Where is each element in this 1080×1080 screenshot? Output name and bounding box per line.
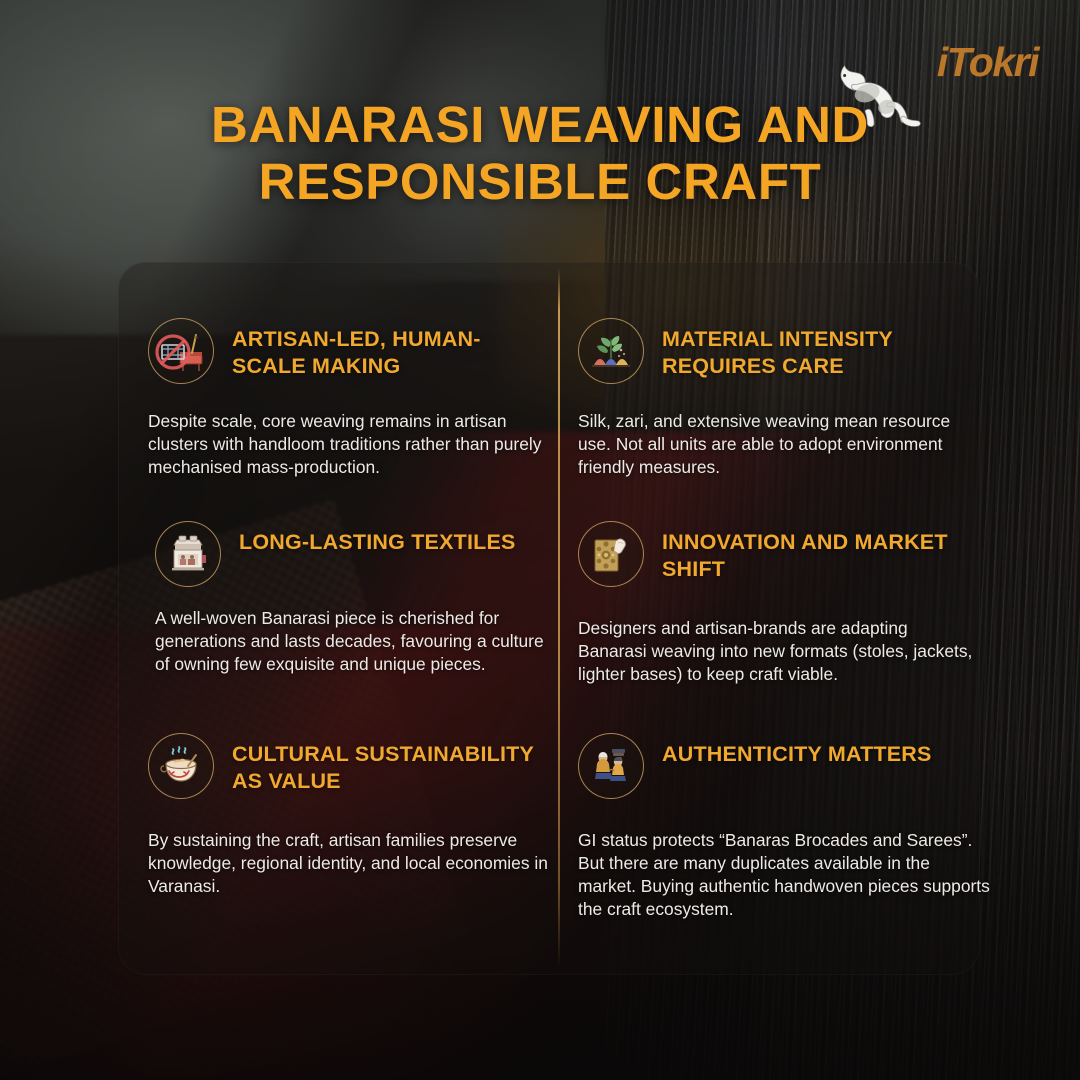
card-header: CULTURAL SUSTAINABILITY AS VALUE — [148, 733, 548, 799]
card-header: INNOVATION AND MARKET SHIFT — [578, 521, 978, 587]
info-card-artisan-led: ARTISAN-LED, HUMAN-SCALE MAKING Despite … — [148, 318, 548, 479]
info-card-authenticity-matters: AUTHENTICITY MATTERS GI status protects … — [578, 733, 990, 922]
brand-logo[interactable]: iTokri — [937, 42, 1038, 83]
card-header: LONG-LASTING TEXTILES — [155, 521, 548, 587]
header: BANARASI WEAVING AND RESPONSIBLE CRAFT i… — [0, 0, 1080, 250]
info-card-cultural-sustainability: CULTURAL SUSTAINABILITY AS VALUE By sust… — [148, 733, 548, 898]
info-card-material-intensity: MATERIAL INTENSITY REQUIRES CARE Silk, z… — [578, 318, 978, 479]
info-card-long-lasting-textiles: LONG-LASTING TEXTILES A well-woven Banar… — [155, 521, 548, 676]
no-machine-loom-icon — [148, 318, 214, 384]
natural-dye-leaves-icon — [578, 318, 644, 384]
card-title: LONG-LASTING TEXTILES — [239, 521, 516, 556]
card-title: CULTURAL SUSTAINABILITY AS VALUE — [232, 733, 548, 794]
two-seated-artisans-icon — [578, 733, 644, 799]
info-card-innovation-market-shift: INNOVATION AND MARKET SHIFT Designers an… — [578, 521, 978, 686]
steaming-pot-icon — [148, 733, 214, 799]
card-header: AUTHENTICITY MATTERS — [578, 733, 990, 799]
card-title: MATERIAL INTENSITY REQUIRES CARE — [662, 318, 978, 379]
card-title: INNOVATION AND MARKET SHIFT — [662, 521, 978, 582]
card-header: ARTISAN-LED, HUMAN-SCALE MAKING — [148, 318, 548, 384]
leaping-cat-icon — [828, 52, 926, 132]
page-title-line-2: RESPONSIBLE CRAFT — [0, 153, 1080, 210]
card-body: By sustaining the craft, artisan familie… — [148, 829, 548, 898]
hand-holding-brocade-icon — [578, 521, 644, 587]
card-header: MATERIAL INTENSITY REQUIRES CARE — [578, 318, 978, 384]
artisan-shop-building-icon — [155, 521, 221, 587]
card-body: Designers and artisan-brands are adaptin… — [578, 617, 978, 686]
card-body: Silk, zari, and extensive weaving mean r… — [578, 410, 978, 479]
card-title: AUTHENTICITY MATTERS — [662, 733, 932, 768]
card-body: Despite scale, core weaving remains in a… — [148, 410, 548, 479]
column-divider — [558, 268, 560, 968]
card-body: A well-woven Banarasi piece is cherished… — [155, 607, 548, 676]
card-title: ARTISAN-LED, HUMAN-SCALE MAKING — [232, 318, 548, 379]
card-body: GI status protects “Banaras Brocades and… — [578, 829, 990, 922]
page-title-line-1: BANARASI WEAVING AND — [211, 96, 869, 153]
